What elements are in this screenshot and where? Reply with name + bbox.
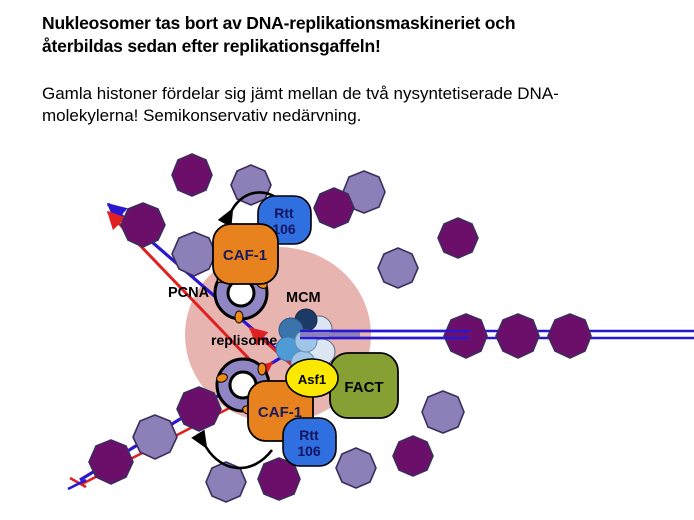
- rtt106-bottom-label-line2: 106: [297, 443, 321, 459]
- nucleosome-group-lower: [89, 387, 221, 484]
- text-spacer: [42, 59, 662, 83]
- nucleosome-old: [444, 314, 487, 358]
- rtt106-top-label-line1: Rtt: [274, 205, 294, 221]
- nucleosome-new: [172, 232, 216, 276]
- fact-label: FACT: [344, 379, 383, 396]
- asf1-chaperone[interactable]: Asf1: [286, 359, 338, 397]
- text-block: Nukleosomer tas bort av DNA-replikations…: [42, 12, 662, 128]
- nucleosome-old: [393, 436, 433, 476]
- body-line-2: molekylerna! Semikonservativ nedärvning.: [42, 105, 662, 128]
- nucleosome-old: [548, 314, 591, 358]
- nucleosome-new: [336, 448, 376, 488]
- nucleosome-old: [89, 440, 133, 484]
- rtt106-bottom-label-line1: Rtt: [299, 427, 319, 443]
- replisome-label: replisome: [211, 332, 277, 348]
- nucleosome-new: [378, 248, 418, 288]
- nucleosome-old: [314, 188, 354, 228]
- caf1-top[interactable]: CAF-1: [213, 224, 278, 284]
- mcm-label: MCM: [286, 290, 321, 306]
- pcna-tab: [235, 311, 243, 323]
- nucleosome-old: [172, 154, 212, 196]
- nucleosome-group-upper: [121, 203, 216, 276]
- fact-complex[interactable]: FACT: [330, 353, 398, 418]
- nucleosome-old: [177, 387, 221, 431]
- nucleosome-new: [133, 415, 177, 459]
- nucleosome-group-right: [444, 314, 591, 358]
- body-line-1: Gamla histoner fördelar sig jämt mellan …: [42, 83, 662, 106]
- nucleosome-old: [438, 218, 478, 258]
- nucleosome-new: [422, 391, 464, 433]
- asf1-label: Asf1: [298, 372, 326, 387]
- recruitment-arrow-bottom: [206, 447, 272, 468]
- caf1-top-label: CAF-1: [223, 247, 267, 264]
- heading-line-1: Nukleosomer tas bort av DNA-replikations…: [42, 12, 662, 35]
- heading-line-2: återbildas sedan efter replikationsgaffe…: [42, 35, 662, 58]
- rtt106-bottom[interactable]: Rtt 106: [283, 418, 336, 466]
- pcna-label: PCNA: [168, 285, 210, 301]
- nucleosome-old: [121, 203, 165, 247]
- nucleosome-old: [496, 314, 539, 358]
- replication-fork-diagram: Rtt 106 CAF-1 CAF-1 Rtt 106 FACT: [0, 150, 694, 520]
- slide-canvas: Nukleosomer tas bort av DNA-replikations…: [0, 0, 694, 520]
- pcna-tab: [258, 363, 266, 375]
